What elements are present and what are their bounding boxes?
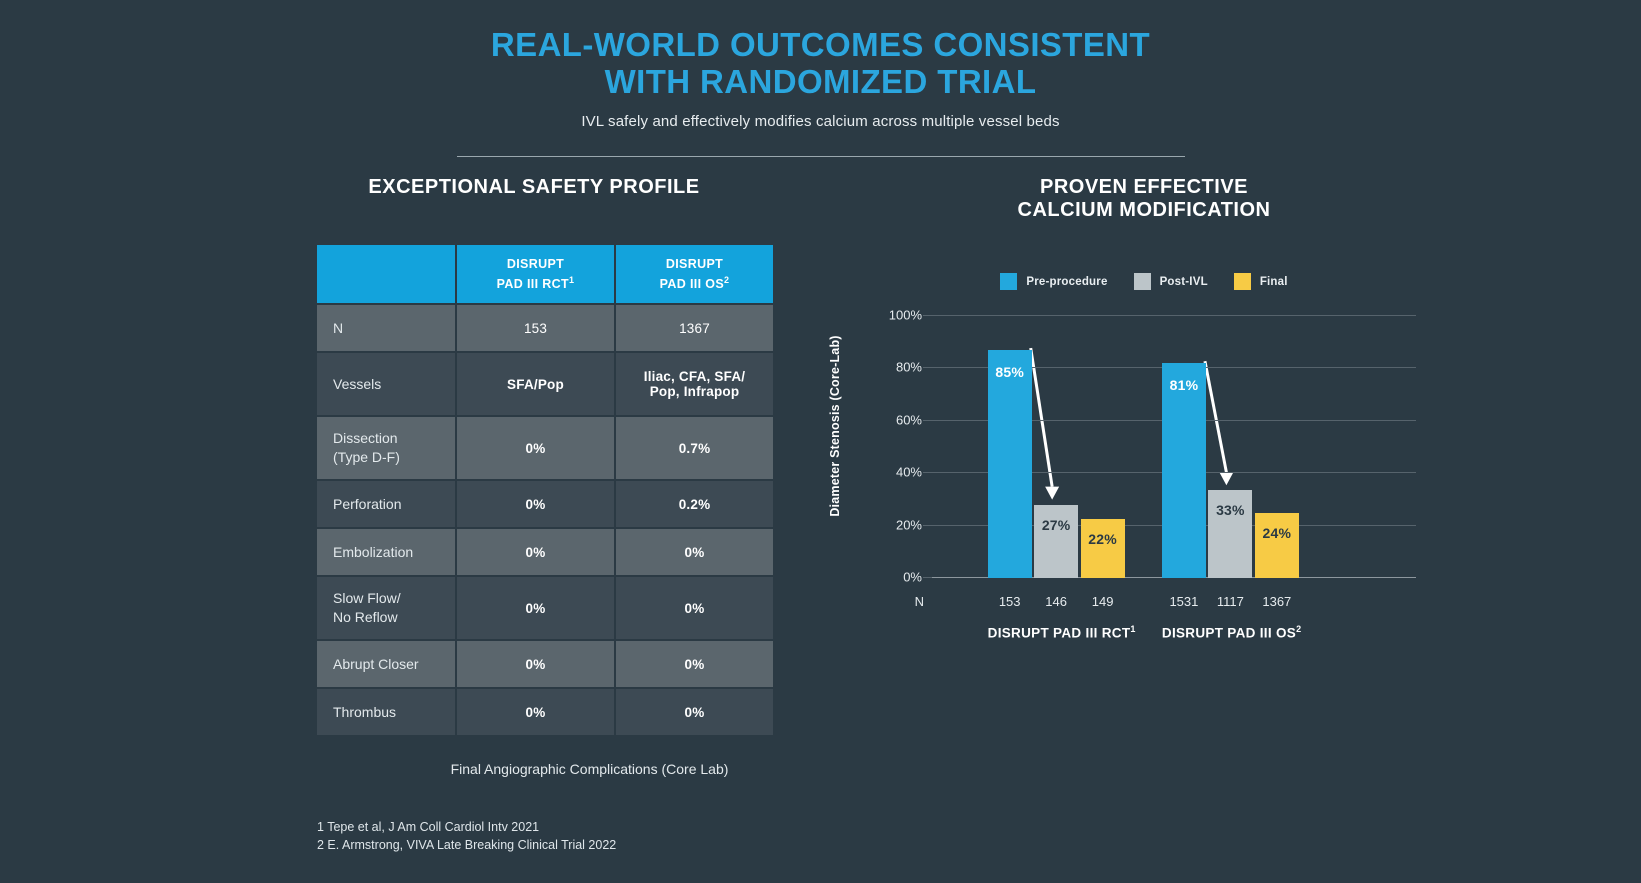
chart-n-value: 149 [1081, 594, 1125, 609]
column-header-rct: DISRUPT PAD III RCT1 [457, 245, 614, 303]
legend-item-post-ivl: Post-IVL [1134, 273, 1208, 290]
table-row: Vessels SFA/Pop Iliac, CFA, SFA/ Pop, In… [317, 353, 773, 415]
row-value-vessels-rct: SFA/Pop [457, 353, 614, 415]
chart-area: Diameter Stenosis (Core-Lab) 0%20%40%60%… [864, 308, 1424, 608]
row-value-embolization-rct: 0% [457, 529, 614, 575]
row-label-embolization: Embolization [317, 529, 455, 575]
table-header-row: DISRUPT PAD III RCT1 DISRUPT PAD III OS2 [317, 245, 773, 303]
chart-plot: 0%20%40%60%80%100%85%27%22%81%33%24% [932, 316, 1416, 578]
chart-bar: 22% [1081, 519, 1125, 578]
row-value-n-rct: 153 [457, 305, 614, 351]
chart-n-value: 1117 [1208, 594, 1252, 609]
legend-swatch-icon [1000, 273, 1017, 290]
legend-swatch-icon [1234, 273, 1251, 290]
reduction-arrow-icon [1031, 348, 1059, 500]
chart-bar: 33% [1208, 490, 1252, 578]
row-value-perforation-os: 0.2% [616, 481, 773, 527]
row-value-thrombus-rct: 0% [457, 689, 614, 735]
row-label-dissection-line2: (Type D-F) [333, 449, 400, 465]
row-label-slow-flow: Slow Flow/ No Reflow [317, 577, 455, 639]
y-axis-tick-label: 20% [896, 517, 922, 532]
row-value-embolization-os: 0% [616, 529, 773, 575]
y-axis-tick-mark [923, 367, 932, 368]
y-axis-tick-label: 100% [889, 308, 922, 323]
title-line-2: WITH RANDOMIZED TRIAL [0, 63, 1641, 100]
subtitle: IVL safely and effectively modifies calc… [0, 113, 1641, 130]
chart-legend: Pre-procedurePost-IVLFinal [864, 273, 1424, 290]
safety-panel-title: EXCEPTIONAL SAFETY PROFILE [204, 176, 864, 199]
column-header-rct-line1: DISRUPT [507, 257, 564, 271]
footnotes: 1 Tepe et al, J Am Coll Cardiol Intv 202… [317, 818, 616, 854]
chart-bar-value-label: 27% [1034, 517, 1078, 533]
footnote-2: 2 E. Armstrong, VIVA Late Breaking Clini… [317, 836, 616, 854]
reduction-arrow-icon [1205, 361, 1233, 485]
row-label-thrombus: Thrombus [317, 689, 455, 735]
row-value-dissection-os: 0.7% [616, 417, 773, 479]
chart-gridline: 100% [932, 315, 1416, 316]
y-axis-tick-mark [923, 577, 932, 578]
y-axis-tick-label: 80% [896, 360, 922, 375]
legend-item-pre-procedure: Pre-procedure [1000, 273, 1107, 290]
column-header-os: DISRUPT PAD III OS2 [616, 245, 773, 303]
chart-panel-title-line2: CALCIUM MODIFICATION [1018, 199, 1271, 221]
legend-label: Final [1260, 276, 1288, 288]
chart-bar: 24% [1255, 513, 1299, 579]
y-axis-title: Diameter Stenosis (Core-Lab) [828, 288, 846, 564]
safety-table-caption: Final Angiographic Complications (Core L… [204, 761, 864, 777]
n-row-label: N [915, 594, 924, 609]
y-axis-tick-mark [923, 472, 932, 473]
footnote-1: 1 Tepe et al, J Am Coll Cardiol Intv 202… [317, 818, 616, 836]
column-header-os-line1: DISRUPT [666, 257, 723, 271]
y-axis-tick-mark [923, 525, 932, 526]
table-row: Thrombus 0% 0% [317, 689, 773, 735]
table-row: N 153 1367 [317, 305, 773, 351]
column-header-rct-line2: PAD III RCT [497, 277, 569, 291]
chart-group-label-text: DISRUPT PAD III RCT [988, 626, 1131, 641]
chart-group-labels: DISRUPT PAD III RCT1DISRUPT PAD III OS2 [932, 624, 1416, 644]
y-axis-tick-label: 0% [903, 570, 922, 585]
chart-bar-value-label: 22% [1081, 531, 1125, 547]
column-header-os-superscript: 2 [724, 275, 729, 285]
y-axis-tick-label: 40% [896, 465, 922, 480]
row-value-vessels-os-line1: Iliac, CFA, SFA/ [644, 369, 745, 384]
row-label-dissection: Dissection (Type D-F) [317, 417, 455, 479]
slide-root: REAL-WORLD OUTCOMES CONSISTENT WITH RAND… [0, 0, 1641, 883]
row-label-n: N [317, 305, 455, 351]
legend-label: Pre-procedure [1026, 276, 1107, 288]
chart-n-row: N 153146149153111171367 [932, 594, 1416, 612]
legend-label: Post-IVL [1160, 276, 1208, 288]
row-value-abrupt-closer-rct: 0% [457, 641, 614, 687]
chart-panel-title-line1: PROVEN EFFECTIVE [1040, 176, 1248, 198]
row-value-vessels-os-line2: Pop, Infrapop [650, 384, 740, 399]
chart-n-value: 146 [1034, 594, 1078, 609]
y-axis-tick-label: 60% [896, 412, 922, 427]
chart-n-value: 1531 [1162, 594, 1206, 609]
row-value-slow-flow-rct: 0% [457, 577, 614, 639]
row-value-slow-flow-os: 0% [616, 577, 773, 639]
table-row: Embolization 0% 0% [317, 529, 773, 575]
column-header-rct-superscript: 1 [569, 275, 574, 285]
slide-header: REAL-WORLD OUTCOMES CONSISTENT WITH RAND… [0, 0, 1641, 157]
y-axis-tick-mark [923, 420, 932, 421]
chart-bar-value-label: 24% [1255, 525, 1299, 541]
chart-bar: 85% [988, 350, 1032, 578]
column-header-blank [317, 245, 455, 303]
row-label-dissection-line1: Dissection [333, 430, 398, 446]
chart-group-label-text: DISRUPT PAD III OS [1162, 626, 1296, 641]
chart-n-value: 1367 [1255, 594, 1299, 609]
chart-n-value: 153 [988, 594, 1032, 609]
header-divider [457, 156, 1185, 157]
column-header-os-line2: PAD III OS [660, 277, 724, 291]
chart-panel: PROVEN EFFECTIVE CALCIUM MODIFICATION Pr… [864, 176, 1424, 608]
chart-bar-value-label: 81% [1162, 377, 1206, 393]
row-label-slow-flow-line1: Slow Flow/ [333, 590, 401, 606]
row-value-perforation-rct: 0% [457, 481, 614, 527]
chart-group-label: DISRUPT PAD III RCT1 [988, 624, 1125, 641]
table-row: Dissection (Type D-F) 0% 0.7% [317, 417, 773, 479]
legend-item-final: Final [1234, 273, 1288, 290]
row-label-abrupt-closer: Abrupt Closer [317, 641, 455, 687]
y-axis-tick-mark [923, 315, 932, 316]
chart-bar-value-label: 85% [988, 364, 1032, 380]
row-label-perforation: Perforation [317, 481, 455, 527]
title-line-1: REAL-WORLD OUTCOMES CONSISTENT [0, 26, 1641, 63]
chart-group-label-superscript: 2 [1296, 624, 1301, 634]
row-label-vessels: Vessels [317, 353, 455, 415]
row-label-slow-flow-line2: No Reflow [333, 609, 398, 625]
safety-table-wrap: DISRUPT PAD III RCT1 DISRUPT PAD III OS2… [204, 243, 864, 737]
safety-panel: EXCEPTIONAL SAFETY PROFILE DISRUPT PAD I… [204, 176, 864, 777]
chart-group-label-superscript: 1 [1130, 624, 1135, 634]
row-value-thrombus-os: 0% [616, 689, 773, 735]
chart-panel-title: PROVEN EFFECTIVE CALCIUM MODIFICATION [864, 176, 1424, 222]
row-value-vessels-os: Iliac, CFA, SFA/ Pop, Infrapop [616, 353, 773, 415]
row-value-dissection-rct: 0% [457, 417, 614, 479]
chart-bar: 81% [1162, 363, 1206, 578]
table-row: Slow Flow/ No Reflow 0% 0% [317, 577, 773, 639]
table-row: Perforation 0% 0.2% [317, 481, 773, 527]
chart-bar: 27% [1034, 505, 1078, 578]
legend-swatch-icon [1134, 273, 1151, 290]
row-value-abrupt-closer-os: 0% [616, 641, 773, 687]
chart-bar-value-label: 33% [1208, 502, 1252, 518]
row-value-n-os: 1367 [616, 305, 773, 351]
chart-group-label: DISRUPT PAD III OS2 [1162, 624, 1299, 641]
table-row: Abrupt Closer 0% 0% [317, 641, 773, 687]
safety-table: DISRUPT PAD III RCT1 DISRUPT PAD III OS2… [315, 243, 775, 737]
